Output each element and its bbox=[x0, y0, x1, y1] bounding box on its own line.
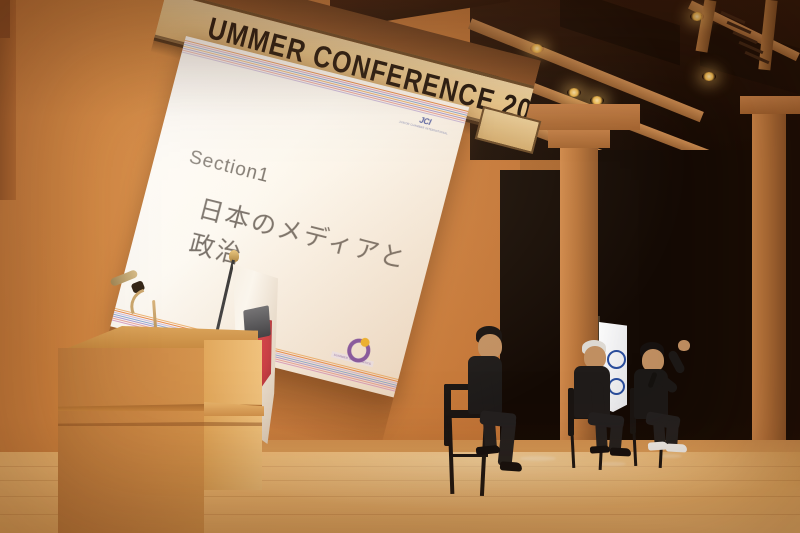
person-speaking-panelist bbox=[626, 342, 726, 470]
podium-front-panel bbox=[58, 348, 204, 533]
person-moderator bbox=[438, 326, 548, 496]
speaker-sneaker-2 bbox=[666, 443, 687, 452]
stage-photo-scene: UMMER CONFERENCE 2017 JCI JCI JUNIOR CH bbox=[0, 0, 800, 533]
architectural-column-2 bbox=[752, 110, 786, 450]
speaker-raised-hand bbox=[678, 340, 690, 351]
stool-3-leg-1 bbox=[632, 418, 638, 466]
stool-2-leg-1 bbox=[570, 418, 576, 468]
wall-corner-left-upper bbox=[0, 0, 10, 38]
slide-footer-logo: SUMMER CONFERENCE bbox=[331, 331, 379, 368]
moderator-shoe-2 bbox=[500, 461, 523, 472]
column-capital-1 bbox=[548, 128, 610, 148]
ceiling-spotlight-4 bbox=[702, 72, 716, 81]
senior-shoe-1 bbox=[590, 445, 610, 453]
lectern-podium bbox=[58, 318, 273, 533]
ceiling-spotlight-3 bbox=[567, 88, 581, 97]
column-capital-3 bbox=[740, 96, 800, 114]
stage-recess-far-right bbox=[784, 120, 800, 450]
speaker-raised-arm-forearm bbox=[667, 349, 686, 374]
moderator-shoe-1 bbox=[476, 445, 501, 455]
ceiling-spotlight-2 bbox=[690, 12, 704, 21]
slide-section-label: Section1 bbox=[187, 147, 272, 188]
